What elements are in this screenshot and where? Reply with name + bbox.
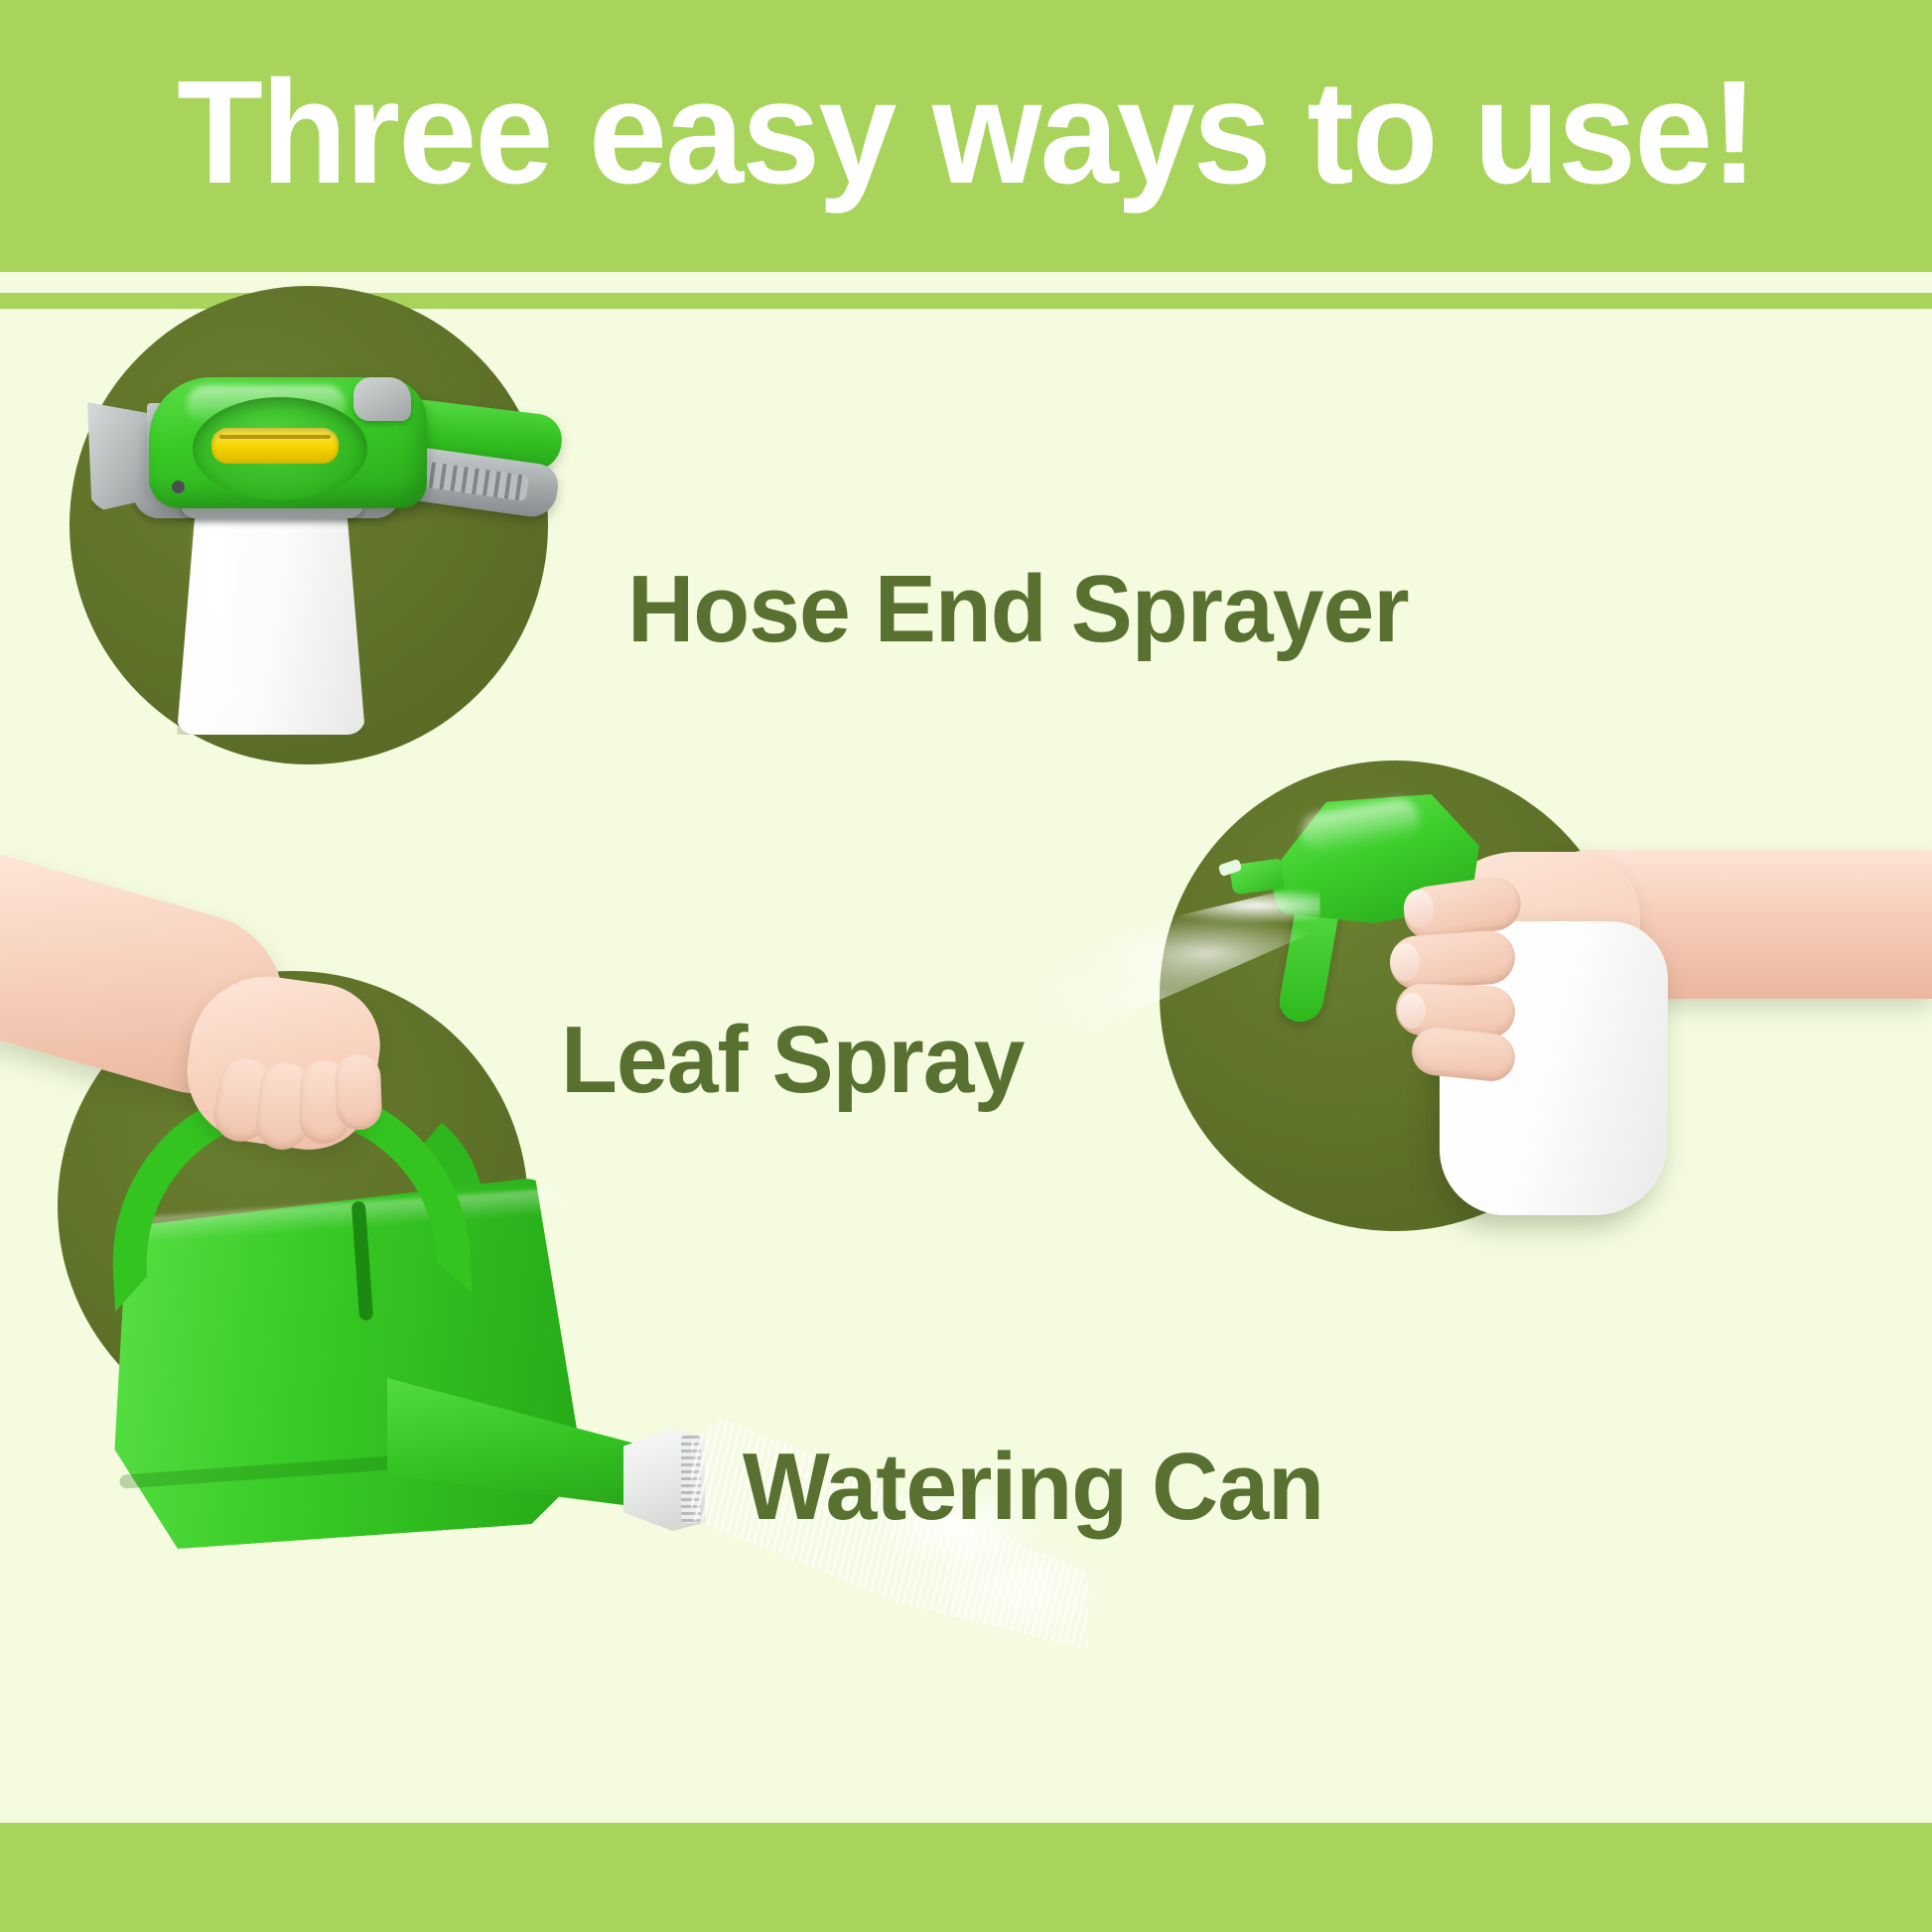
- page-title: Three easy ways to use!: [177, 60, 1756, 207]
- sprayer-dial-groove: [219, 435, 331, 439]
- sprayer-yellow-dial: [211, 428, 339, 464]
- header-band: Three easy ways to use!: [0, 0, 1932, 272]
- sprayer-grey-knob: [353, 377, 411, 421]
- hose-end-sprayer-label: Hose End Sprayer: [627, 562, 1409, 657]
- leaf-spray-image: [1092, 695, 1932, 1311]
- can-finger: [335, 1053, 383, 1131]
- spray-fingernail: [1398, 993, 1426, 1029]
- spray-fingernail: [1404, 890, 1434, 927]
- poster-canvas: Three easy ways to use! Hose End Sprayer: [0, 0, 1932, 1932]
- footer-band: [0, 1823, 1932, 1932]
- hose-end-sprayer-image: [69, 286, 548, 764]
- can-rose-face: [681, 1436, 701, 1523]
- spray-fingernail: [1390, 943, 1420, 981]
- sprayer-bottle-highlight: [201, 516, 234, 715]
- watering-can-label: Watering Can: [743, 1440, 1323, 1535]
- sprayer-screw: [172, 481, 185, 493]
